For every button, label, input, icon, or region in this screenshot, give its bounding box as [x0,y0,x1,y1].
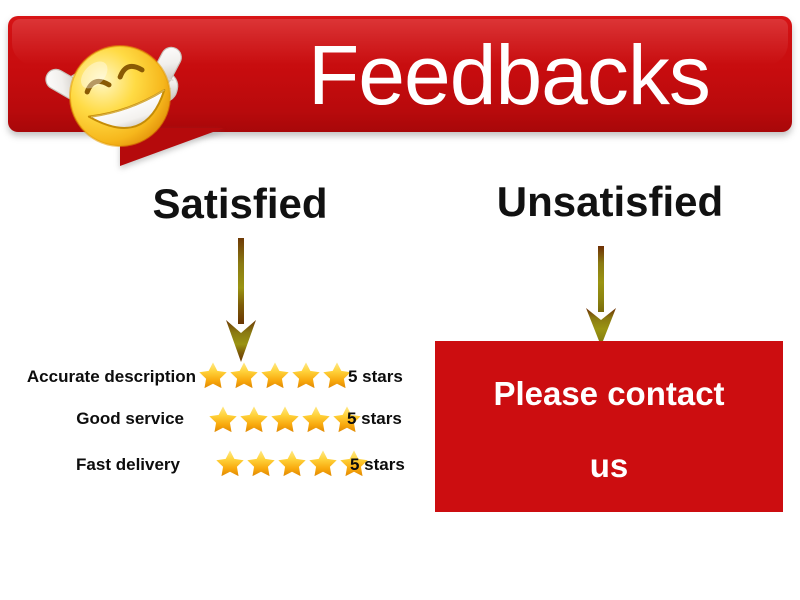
star-icon [246,448,276,478]
star-icon [308,448,338,478]
contact-line-1: Please contact [493,358,724,430]
star-icon [215,448,245,478]
star-icon [301,404,331,434]
down-arrow-icon-unsatisfied [578,246,624,346]
down-arrow-icon-satisfied [218,238,264,362]
feedback-banner: Feedbacks [8,16,792,132]
star-icon [198,360,228,390]
star-icon [291,360,321,390]
contact-us-box[interactable]: Please contact us [435,341,783,512]
rating-label: Good service [76,404,184,434]
star-icon [277,448,307,478]
star-icon [208,404,238,434]
unsatisfied-heading: Unsatisfied [430,178,790,226]
table-row: Fast delivery 5 stars [0,448,420,492]
rating-label: Accurate description [27,362,196,392]
rating-list: Accurate description 5 stars Good servic… [0,360,420,492]
table-row: Good service 5 stars [0,404,420,448]
star-icon [239,404,269,434]
star-icon [229,360,259,390]
star-rating-1 [208,400,362,438]
satisfied-heading: Satisfied [100,180,380,228]
laughing-face-thumbs-up-emoji [36,34,206,160]
feedback-infographic: Feedbacks Satisfied Unsatisfied [0,0,800,600]
star-rating-0 [198,356,352,394]
rating-label: Fast delivery [76,450,180,480]
star-rating-2 [215,444,369,482]
table-row: Accurate description 5 stars [0,360,420,404]
rating-count: 5 stars [347,404,402,434]
star-icon [270,404,300,434]
banner-title: Feedbacks [308,28,778,122]
rating-count: 5 stars [348,362,403,392]
rating-count: 5 stars [350,450,405,480]
star-icon [260,360,290,390]
contact-line-2: us [590,430,629,502]
